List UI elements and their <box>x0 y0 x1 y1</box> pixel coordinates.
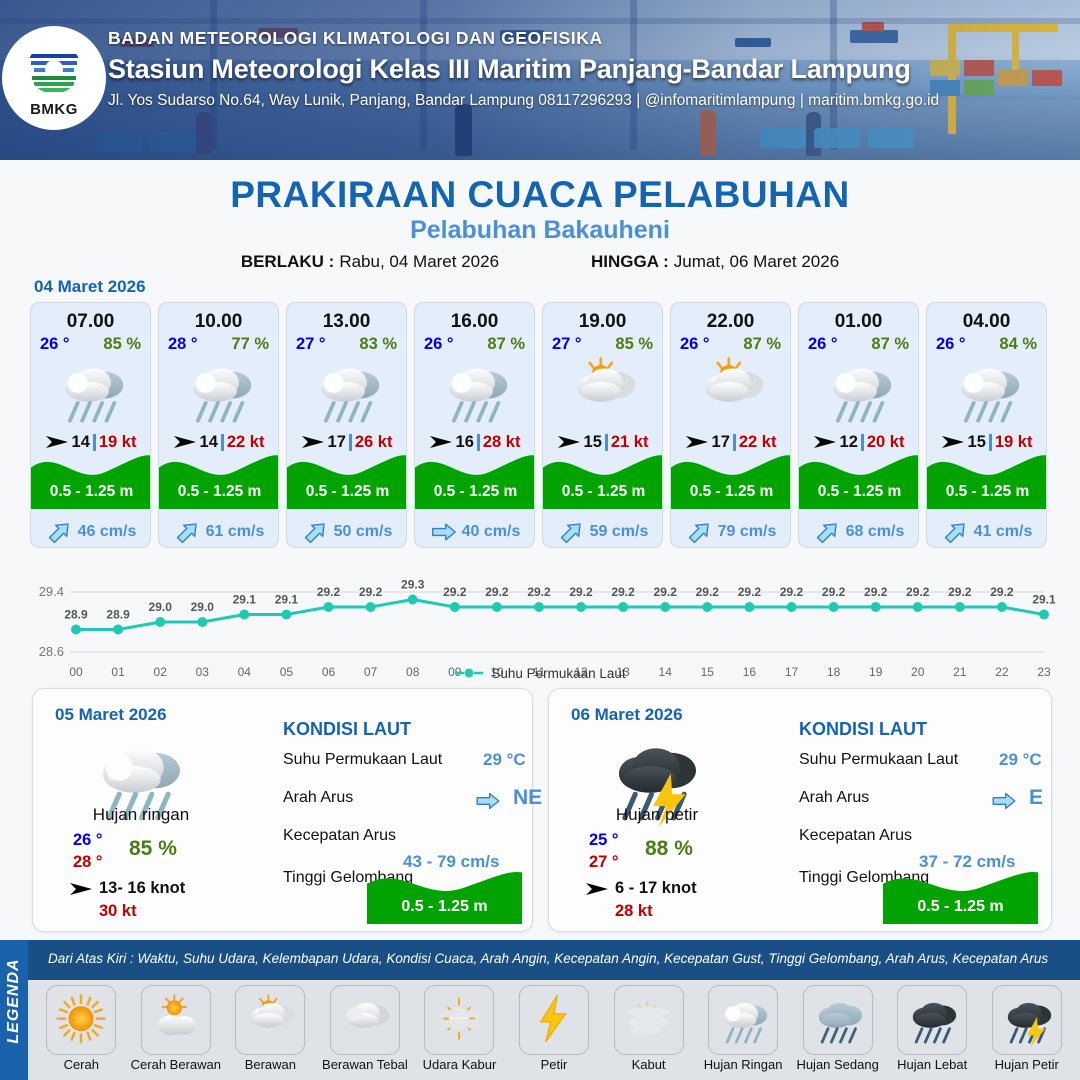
kabut-icon <box>614 985 684 1055</box>
current-direction-arrow <box>943 521 969 543</box>
legend-item: Hujan Lebat <box>885 985 980 1072</box>
current-direction-label: Arah Arus <box>283 789 353 807</box>
card-humidity: 84 % <box>999 335 1037 354</box>
legend-item-label: Hujan Ringan <box>704 1057 783 1072</box>
card-wave-height: 0.5 - 1.25 m <box>159 483 279 501</box>
card-current-speed: 79 cm/s <box>718 523 777 541</box>
svg-text:29.2: 29.2 <box>485 585 509 599</box>
card-temp-humidity-row: 26 ° 87 % <box>671 333 790 354</box>
card-wave-height: 0.5 - 1.25 m <box>799 483 919 501</box>
forecast-cards-row: 07.00 26 ° 85 % 14 <box>30 302 1052 548</box>
forecast-date-label: 04 Maret 2026 <box>34 277 146 297</box>
svg-text:29.4: 29.4 <box>39 584 64 599</box>
card-current-row: 61 cm/s <box>159 521 279 543</box>
svg-text:29.2: 29.2 <box>359 585 383 599</box>
current-speed-label: Kecepatan Arus <box>799 827 912 845</box>
card-current-speed: 50 cm/s <box>334 523 393 541</box>
card-wave-height: 0.5 - 1.25 m <box>287 483 407 501</box>
card-wave-band: 0.5 - 1.25 m <box>543 447 663 509</box>
berawan-icon <box>543 356 662 428</box>
legend-items-row: Cerah Cerah Berawan <box>28 980 1080 1080</box>
page-header: BMKG BADAN METEOROLOGI KLIMATOLOGI DAN G… <box>0 0 1080 160</box>
forecast-card: 10.00 28 ° 77 % 14 <box>158 302 279 548</box>
current-direction-arrow <box>175 521 201 543</box>
legend-item-label: Berawan Tebal <box>322 1057 408 1072</box>
card-wave-band: 0.5 - 1.25 m <box>159 447 279 509</box>
card-temperature: 26 ° <box>808 335 838 354</box>
card-wave-band: 0.5 - 1.25 m <box>799 447 919 509</box>
legend-side-label: LEGENDA <box>5 945 23 1057</box>
card-humidity: 87 % <box>487 335 525 354</box>
svg-text:29.2: 29.2 <box>738 585 762 599</box>
petir-icon <box>519 985 589 1055</box>
legend-bar: LEGENDA Dari Atas Kiri : Waktu, Suhu Uda… <box>0 940 1080 1080</box>
day-wind-row: 13- 16 knot <box>69 879 185 898</box>
current-direction-arrow <box>473 791 503 811</box>
svg-text:29.2: 29.2 <box>317 585 341 599</box>
hujan-ringan-icon <box>927 356 1046 428</box>
svg-text:29.2: 29.2 <box>696 585 720 599</box>
wave-band: 0.5 - 1.25 m <box>367 864 522 924</box>
card-temperature: 26 ° <box>40 335 70 354</box>
legend-label-sst: Suhu Permukaan Laut <box>491 666 625 681</box>
berlaku-block: BERLAKU :Rabu, 04 Maret 2026 <box>241 252 499 272</box>
card-humidity: 83 % <box>359 335 397 354</box>
svg-text:29.2: 29.2 <box>780 585 804 599</box>
day-panel-06-maret: 06 Maret 2026 Hujan petir 25 ° 27 ° 88 % <box>548 688 1052 932</box>
validity-row: BERLAKU :Rabu, 04 Maret 2026 HINGGA :Jum… <box>0 252 1080 272</box>
sst-value: 29 °C <box>483 750 526 770</box>
card-time: 01.00 <box>799 311 918 333</box>
card-humidity: 87 % <box>743 335 781 354</box>
forecast-card: 19.00 27 ° 85 % 15 21 k <box>542 302 663 548</box>
day-wind-row: 6 - 17 knot <box>585 879 697 898</box>
sea-conditions-title: KONDISI LAUT <box>799 719 927 740</box>
day-date: 06 Maret 2026 <box>571 705 683 725</box>
card-temp-humidity-row: 26 ° 84 % <box>927 333 1046 354</box>
card-humidity: 85 % <box>615 335 653 354</box>
current-direction-value: E <box>1029 786 1043 810</box>
legend-item: Berawan <box>223 985 318 1072</box>
legend-item: Cerah Berawan <box>129 985 224 1072</box>
udara-kabur-icon <box>424 985 494 1055</box>
hujan-ringan-icon <box>415 356 534 428</box>
legend-item: Berawan Tebal <box>318 985 413 1072</box>
card-wave-band: 0.5 - 1.25 m <box>415 447 535 509</box>
legend-item: Udara Kabur <box>412 985 507 1072</box>
hingga-value: Jumat, 06 Maret 2026 <box>674 252 839 271</box>
card-wave-height: 0.5 - 1.25 m <box>671 483 791 501</box>
card-temp-humidity-row: 26 ° 87 % <box>799 333 918 354</box>
card-wave-height: 0.5 - 1.25 m <box>927 483 1047 501</box>
chart-legend: Suhu Permukaan Laut <box>0 666 1080 682</box>
svg-text:29.2: 29.2 <box>864 585 888 599</box>
card-time: 16.00 <box>415 311 534 333</box>
station-name: Stasiun Meteorologi Kelas III Maritim Pa… <box>108 54 1068 85</box>
legend-item-label: Hujan Lebat <box>897 1057 967 1072</box>
svg-text:29.1: 29.1 <box>1032 593 1056 607</box>
card-temp-humidity-row: 26 ° 85 % <box>31 333 150 354</box>
day-gust: 28 kt <box>615 902 653 921</box>
hujan-ringan-icon <box>89 729 189 803</box>
legend-item: Hujan Petir <box>979 985 1074 1072</box>
card-temperature: 26 ° <box>424 335 454 354</box>
svg-text:29.2: 29.2 <box>654 585 678 599</box>
page-subtitle: Pelabuhan Bakauheni <box>0 216 1080 245</box>
hujan-lebat-icon <box>897 985 967 1055</box>
card-current-speed: 68 cm/s <box>846 523 905 541</box>
card-wave-height: 0.5 - 1.25 m <box>543 483 663 501</box>
forecast-card: 04.00 26 ° 84 % 15 <box>926 302 1047 548</box>
berawan-icon <box>671 356 790 428</box>
day-temp-max: 28 ° <box>73 853 103 872</box>
card-humidity: 85 % <box>103 335 141 354</box>
svg-text:29.1: 29.1 <box>233 593 257 607</box>
card-temp-humidity-row: 26 ° 87 % <box>415 333 534 354</box>
forecast-card: 22.00 26 ° 87 % 17 22 k <box>670 302 791 548</box>
cerah-icon <box>46 985 116 1055</box>
cerah-berawan-icon <box>141 985 211 1055</box>
svg-text:28.9: 28.9 <box>64 608 88 622</box>
svg-text:29.2: 29.2 <box>527 585 551 599</box>
bmkg-logo-text: BMKG <box>30 101 78 118</box>
card-temperature: 27 ° <box>552 335 582 354</box>
svg-text:29.2: 29.2 <box>443 585 467 599</box>
svg-text:29.2: 29.2 <box>990 585 1014 599</box>
bmkg-logo-mark <box>23 38 85 100</box>
card-time: 13.00 <box>287 311 406 333</box>
svg-text:29.0: 29.0 <box>191 600 215 614</box>
forecast-card: 01.00 26 ° 87 % 12 <box>798 302 919 548</box>
berlaku-label: BERLAKU : <box>241 252 335 271</box>
card-temp-humidity-row: 27 ° 85 % <box>543 333 662 354</box>
card-time: 04.00 <box>927 311 1046 333</box>
current-direction-arrow <box>431 521 457 543</box>
legend-item-label: Kabut <box>632 1057 666 1072</box>
bmkg-logo: BMKG <box>2 26 106 130</box>
card-temp-humidity-row: 28 ° 77 % <box>159 333 278 354</box>
legend-item-label: Cerah Berawan <box>131 1057 221 1072</box>
wind-direction-arrow <box>69 882 93 896</box>
card-current-row: 50 cm/s <box>287 521 407 543</box>
card-time: 10.00 <box>159 311 278 333</box>
day-wind-speed: 13- 16 knot <box>99 879 185 898</box>
legend-item: Hujan Sedang <box>790 985 885 1072</box>
contact-info: Jl. Yos Sudarso No.64, Way Lunik, Panjan… <box>108 92 1068 110</box>
sst-label: Suhu Permukaan Laut <box>799 751 958 769</box>
day-wind-speed: 6 - 17 knot <box>615 879 697 898</box>
svg-text:29.3: 29.3 <box>401 578 425 592</box>
svg-text:29.0: 29.0 <box>149 600 173 614</box>
card-time: 07.00 <box>31 311 150 333</box>
card-current-row: 79 cm/s <box>671 521 791 543</box>
agency-name: BADAN METEOROLOGI KLIMATOLOGI DAN GEOFIS… <box>108 28 1068 49</box>
svg-text:29.2: 29.2 <box>948 585 972 599</box>
legend-item-label: Cerah <box>64 1057 99 1072</box>
legend-item-label: Berawan <box>245 1057 296 1072</box>
card-current-row: 59 cm/s <box>543 521 663 543</box>
legend-item-label: Udara Kabur <box>423 1057 497 1072</box>
card-current-row: 68 cm/s <box>799 521 919 543</box>
card-current-speed: 59 cm/s <box>590 523 649 541</box>
card-time: 22.00 <box>671 311 790 333</box>
legend-item: Petir <box>507 985 602 1072</box>
berawan-tebal-icon <box>330 985 400 1055</box>
legend-item-label: Hujan Petir <box>995 1057 1059 1072</box>
sea-conditions-title: KONDISI LAUT <box>283 719 411 740</box>
hingga-block: HINGGA :Jumat, 06 Maret 2026 <box>591 252 839 272</box>
legend-item-label: Hujan Sedang <box>796 1057 878 1072</box>
card-wave-band: 0.5 - 1.25 m <box>287 447 407 509</box>
card-current-row: 46 cm/s <box>31 521 151 543</box>
card-wave-band: 0.5 - 1.25 m <box>31 447 151 509</box>
hujan-petir-icon <box>605 729 705 803</box>
day-gust: 30 kt <box>99 902 137 921</box>
hujan-ringan-icon <box>287 356 406 428</box>
hingga-label: HINGGA : <box>591 252 669 271</box>
current-direction-arrow <box>815 521 841 543</box>
card-current-speed: 41 cm/s <box>974 523 1033 541</box>
hujan-petir-icon <box>992 985 1062 1055</box>
card-wave-band: 0.5 - 1.25 m <box>671 447 791 509</box>
header-text-block: BADAN METEOROLOGI KLIMATOLOGI DAN GEOFIS… <box>108 28 1068 110</box>
current-direction-label: Arah Arus <box>799 789 869 807</box>
sst-value: 29 °C <box>999 750 1042 770</box>
day-humidity: 85 % <box>129 837 177 861</box>
berawan-icon <box>235 985 305 1055</box>
legend-line-marker <box>454 667 484 682</box>
day-humidity: 88 % <box>645 837 693 861</box>
wave-height-value: 0.5 - 1.25 m <box>367 898 522 916</box>
card-current-speed: 61 cm/s <box>206 523 265 541</box>
wave-height-value: 0.5 - 1.25 m <box>883 898 1038 916</box>
svg-text:29.2: 29.2 <box>611 585 635 599</box>
berlaku-value: Rabu, 04 Maret 2026 <box>339 252 499 271</box>
forecast-card: 13.00 27 ° 83 % 17 <box>286 302 407 548</box>
card-humidity: 77 % <box>231 335 269 354</box>
svg-text:28.9: 28.9 <box>106 608 130 622</box>
card-wave-height: 0.5 - 1.25 m <box>31 483 151 501</box>
wind-direction-arrow <box>585 882 609 896</box>
legend-item-label: Petir <box>541 1057 568 1072</box>
forecast-card: 07.00 26 ° 85 % 14 <box>30 302 151 548</box>
current-direction-value: NE <box>513 786 542 810</box>
hujan-sedang-icon <box>803 985 873 1055</box>
card-temperature: 27 ° <box>296 335 326 354</box>
card-current-row: 41 cm/s <box>927 521 1047 543</box>
hujan-ringan-icon <box>159 356 278 428</box>
legend-item: Cerah <box>34 985 129 1072</box>
current-direction-arrow <box>559 521 585 543</box>
current-direction-arrow <box>303 521 329 543</box>
card-current-speed: 40 cm/s <box>462 523 521 541</box>
card-current-speed: 46 cm/s <box>78 523 137 541</box>
day-panel-05-maret: 05 Maret 2026 Hujan ringan 26 ° 28 ° 85 … <box>32 688 533 932</box>
hujan-ringan-icon <box>31 356 150 428</box>
svg-text:29.2: 29.2 <box>569 585 593 599</box>
sst-label: Suhu Permukaan Laut <box>283 751 442 769</box>
legend-note: Dari Atas Kiri : Waktu, Suhu Udara, Kele… <box>48 951 1048 966</box>
svg-text:29.2: 29.2 <box>906 585 930 599</box>
card-temperature: 26 ° <box>936 335 966 354</box>
forecast-card: 16.00 26 ° 87 % 16 <box>414 302 535 548</box>
card-humidity: 87 % <box>871 335 909 354</box>
card-time: 19.00 <box>543 311 662 333</box>
hujan-ringan-icon <box>799 356 918 428</box>
legend-item: Hujan Ringan <box>696 985 791 1072</box>
svg-text:29.1: 29.1 <box>275 593 299 607</box>
day-condition: Hujan ringan <box>51 805 231 825</box>
day-temp-max: 27 ° <box>589 853 619 872</box>
card-current-row: 40 cm/s <box>415 521 535 543</box>
day-date: 05 Maret 2026 <box>55 705 167 725</box>
card-wave-band: 0.5 - 1.25 m <box>927 447 1047 509</box>
current-direction-arrow <box>47 521 73 543</box>
legend-note-bar: Dari Atas Kiri : Waktu, Suhu Udara, Kele… <box>28 940 1080 980</box>
current-speed-label: Kecepatan Arus <box>283 827 396 845</box>
svg-text:28.6: 28.6 <box>39 644 64 659</box>
card-temperature: 28 ° <box>168 335 198 354</box>
card-wave-height: 0.5 - 1.25 m <box>415 483 535 501</box>
card-temperature: 26 ° <box>680 335 710 354</box>
wave-band: 0.5 - 1.25 m <box>883 864 1038 924</box>
legend-item: Kabut <box>601 985 696 1072</box>
day-temp-min: 25 ° <box>589 831 619 850</box>
hujan-ringan-icon <box>708 985 778 1055</box>
current-direction-arrow <box>989 791 1019 811</box>
page-title: PRAKIRAAN CUACA PELABUHAN <box>0 174 1080 216</box>
card-temp-humidity-row: 27 ° 83 % <box>287 333 406 354</box>
current-direction-arrow <box>687 521 713 543</box>
day-temp-min: 26 ° <box>73 831 103 850</box>
day-condition: Hujan petir <box>567 805 747 825</box>
svg-text:29.2: 29.2 <box>822 585 846 599</box>
legend-side-tab: LEGENDA <box>0 940 28 1080</box>
